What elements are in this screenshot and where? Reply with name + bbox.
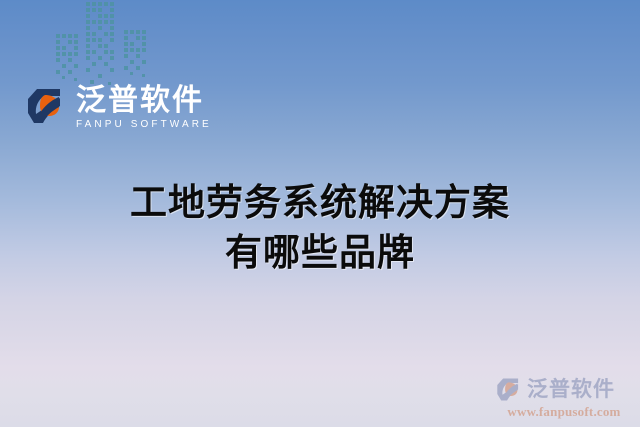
watermark-brand-row: 泛普软件	[496, 377, 632, 402]
fanpu-logo-mark-icon	[26, 87, 66, 125]
pixel-skyline-icon	[52, 0, 184, 92]
watermark-url: www.fanpusoft.com	[496, 404, 632, 419]
headline-line-1: 工地劳务系统解决方案	[0, 178, 640, 228]
promo-banner: 泛普软件 FANPU SOFTWARE 工地劳务系统解决方案 有哪些品牌 泛普软…	[0, 0, 640, 427]
fanpu-watermark-mark-icon	[496, 377, 522, 402]
brand-logo: 泛普软件 FANPU SOFTWARE	[26, 86, 212, 131]
page-title: 工地劳务系统解决方案 有哪些品牌	[0, 178, 640, 278]
brand-name-cn: 泛普软件	[76, 86, 212, 116]
brand-name-en: FANPU SOFTWARE	[76, 119, 212, 131]
headline-line-2: 有哪些品牌	[0, 228, 640, 278]
watermark: 泛普软件 www.fanpusoft.com	[496, 377, 632, 419]
watermark-brand-name: 泛普软件	[527, 378, 615, 401]
